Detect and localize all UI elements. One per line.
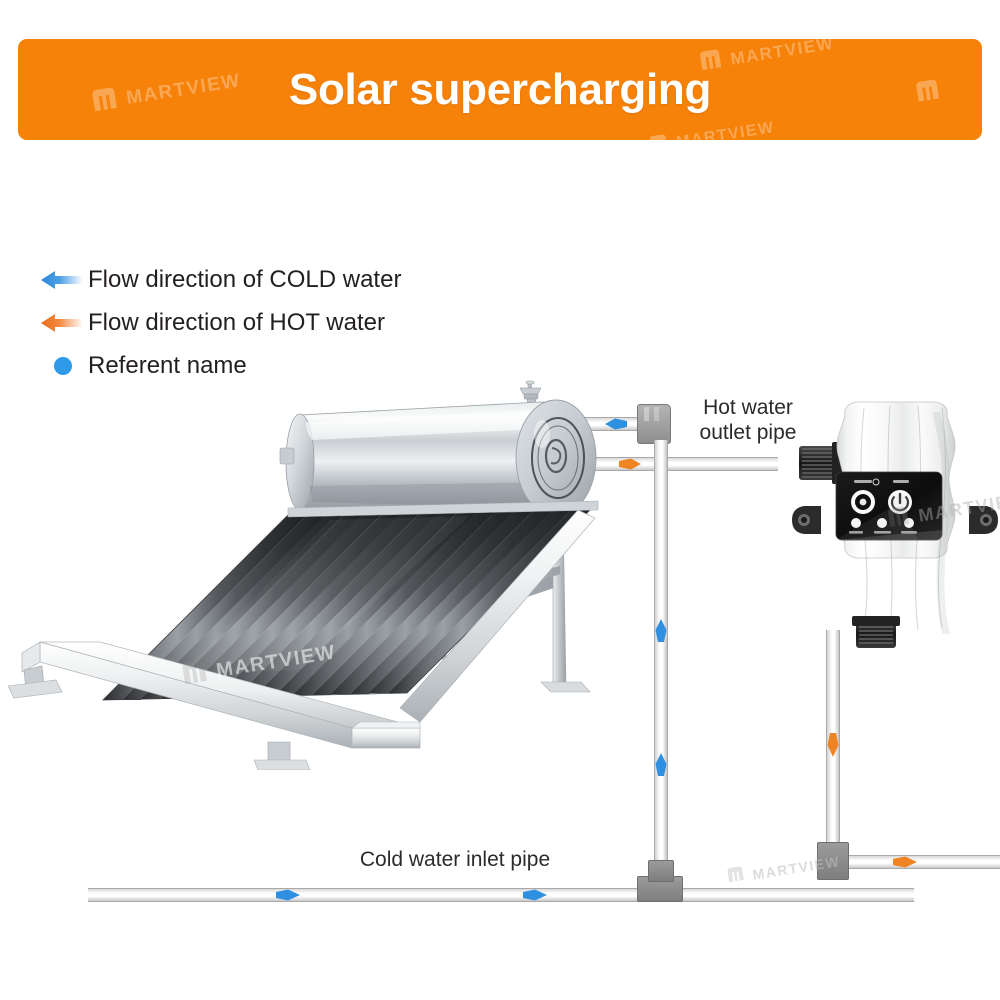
legend-item-hot-water: Flow direction of HOT water — [40, 301, 510, 344]
elbow-fitting-cold-top — [637, 404, 671, 444]
heater-dial-left — [851, 490, 875, 514]
collector-storage-tank — [280, 381, 596, 516]
tank-end-cap — [516, 400, 596, 516]
legend-item-cold-water: Flow direction of COLD water — [40, 258, 510, 301]
heater-bottom-threaded-outlet — [852, 616, 900, 648]
arrow-left-icon — [40, 310, 84, 336]
legend: Flow direction of COLD water Flow direct… — [40, 258, 510, 387]
legend-item-label: Flow direction of HOT water — [88, 311, 385, 335]
heater-control-panel — [836, 472, 942, 540]
legend-item-label: Flow direction of COLD water — [88, 268, 401, 292]
header-banner: MARTVIEW MARTVIEW MARTVIEW — [18, 39, 982, 140]
collector-foot-left — [8, 666, 62, 698]
page-title: Solar supercharging — [18, 39, 982, 140]
pipe-hot-water-main-horizontal — [840, 855, 1000, 869]
tee-fitting-cold-riser-neck — [648, 860, 674, 882]
water-heater-unit: MARTVIEW — [790, 398, 1000, 648]
arrow-left-icon — [40, 267, 84, 293]
hot-water-outlet-pipe-label: Hot water outlet pipe — [690, 396, 806, 446]
pipe-cold-riser-vertical — [654, 440, 668, 890]
pipe-cold-water-main-horizontal — [88, 888, 914, 902]
hot-water-outlet-pipe-label-line1: Hot water — [690, 396, 806, 421]
martview-m-logo — [724, 863, 748, 891]
solar-supercharging-diagram: MARTVIEW MARTVIEW MARTVIEW — [0, 0, 1000, 1000]
collector-foot-right — [254, 742, 310, 770]
pipe-hot-downcomer-vertical — [826, 630, 840, 852]
cold-water-inlet-pipe-label: Cold water inlet pipe — [330, 848, 580, 873]
hot-water-outlet-pipe-label-line2: outlet pipe — [690, 421, 806, 446]
solar-collector: MARTVIEW — [0, 370, 625, 770]
elbow-fitting-hot-bottom — [817, 842, 849, 880]
